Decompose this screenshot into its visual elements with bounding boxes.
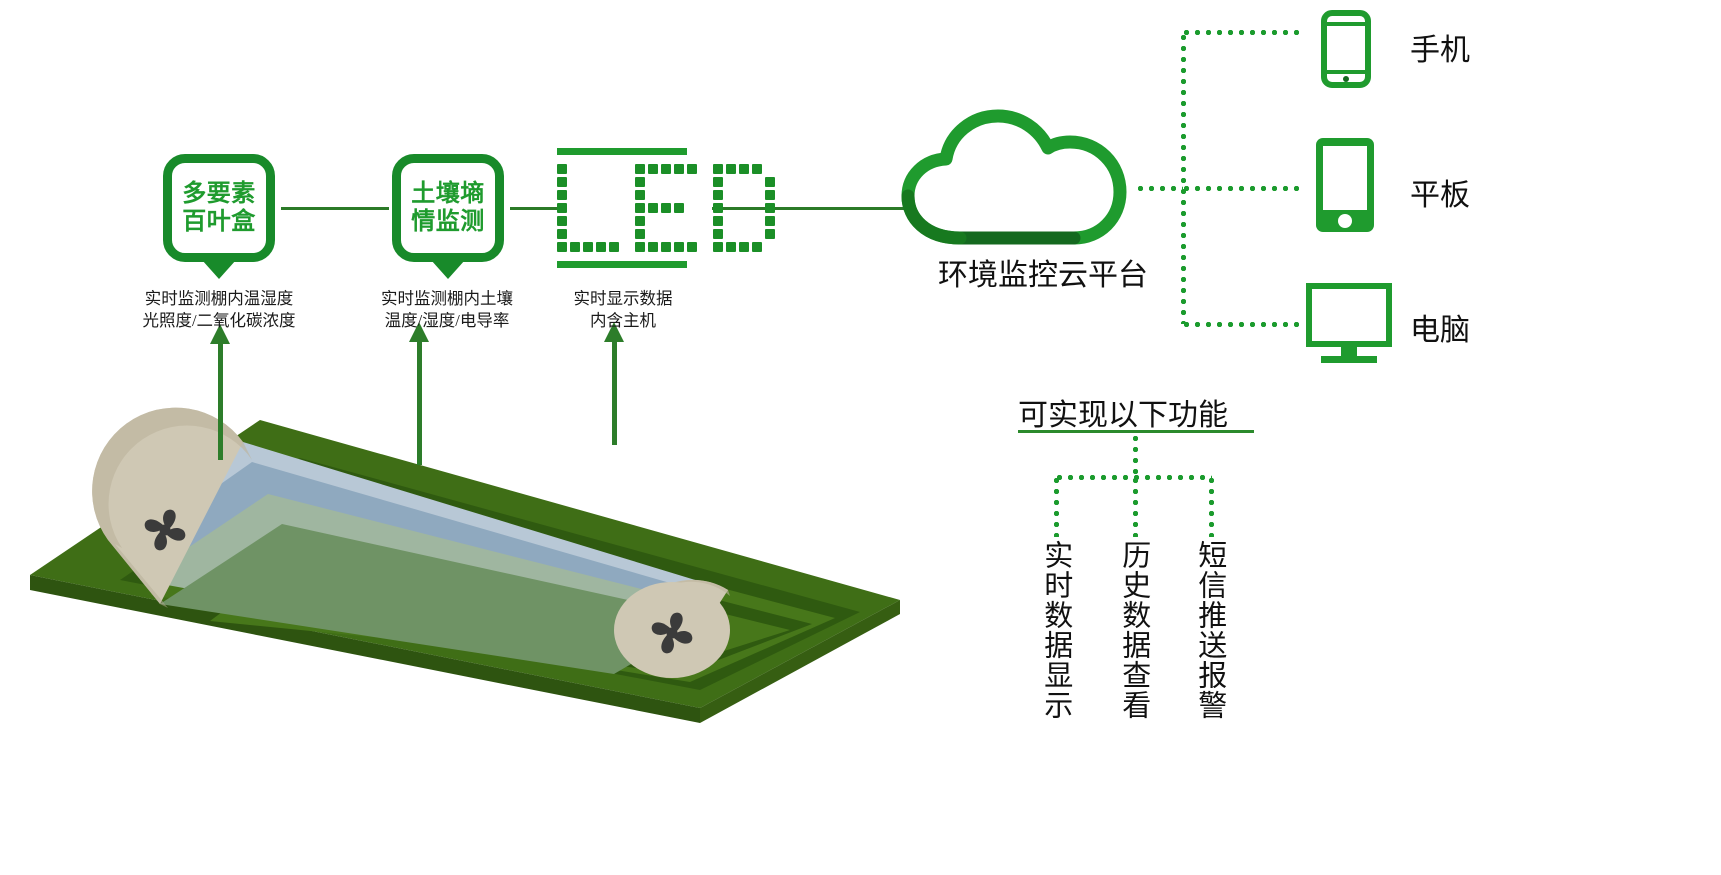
led-pixel bbox=[713, 229, 723, 239]
led-pixel bbox=[661, 203, 671, 213]
led-pixel bbox=[752, 203, 762, 213]
led-pixel bbox=[752, 242, 762, 252]
cloud-platform-label: 环境监控云平台 bbox=[938, 250, 1148, 294]
led-pixel bbox=[557, 229, 567, 239]
led-pixel bbox=[583, 229, 593, 239]
led-pixel bbox=[596, 242, 606, 252]
led-pixel bbox=[765, 190, 775, 200]
led-pixel bbox=[687, 190, 697, 200]
caption-line-2: 内含主机 bbox=[553, 310, 693, 332]
led-pixel bbox=[635, 216, 645, 226]
led-pixel bbox=[687, 177, 697, 187]
led-pixel bbox=[765, 177, 775, 187]
led-pixel bbox=[557, 177, 567, 187]
led-pixel bbox=[713, 216, 723, 226]
led-pixel bbox=[596, 216, 606, 226]
led-pixel bbox=[713, 242, 723, 252]
led-pixel bbox=[622, 177, 632, 187]
led-pixel bbox=[609, 229, 619, 239]
dotted-functions-branch-2 bbox=[1133, 475, 1138, 537]
led-pixel bbox=[609, 164, 619, 174]
caption-line-1: 实时显示数据 bbox=[553, 288, 693, 310]
led-pixel bbox=[765, 229, 775, 239]
dotted-functions-branch-3 bbox=[1209, 475, 1214, 537]
led-pixel-grid bbox=[557, 164, 687, 252]
led-pixel bbox=[622, 242, 632, 252]
node-pointer-1 bbox=[202, 260, 236, 279]
node-label-line2: 百叶盒 bbox=[182, 208, 256, 236]
dotted-bus-vertical bbox=[1181, 32, 1186, 324]
functions-title: 可实现以下功能 bbox=[1018, 390, 1228, 434]
led-pixel bbox=[635, 242, 645, 252]
led-pixel bbox=[661, 190, 671, 200]
led-pixel bbox=[713, 164, 723, 174]
led-pixel bbox=[765, 216, 775, 226]
caption-line-2: 温度/湿度/电导率 bbox=[352, 310, 542, 332]
led-pixel bbox=[739, 190, 749, 200]
led-pixel bbox=[622, 216, 632, 226]
sensor-card-soil-moisture-monitor[interactable]: 土壤墒 情监测 bbox=[392, 154, 504, 262]
led-pixel bbox=[570, 229, 580, 239]
led-display-panel[interactable] bbox=[557, 148, 687, 268]
device-label-phone: 手机 bbox=[1410, 25, 1470, 69]
led-pixel bbox=[739, 177, 749, 187]
led-pixel bbox=[557, 190, 567, 200]
dotted-branch-desktop bbox=[1181, 322, 1305, 327]
led-pixel bbox=[687, 229, 697, 239]
led-pixel bbox=[674, 190, 684, 200]
led-pixel bbox=[583, 216, 593, 226]
led-pixel bbox=[674, 216, 684, 226]
led-pixel bbox=[557, 164, 567, 174]
led-pixel bbox=[583, 242, 593, 252]
led-pixel bbox=[687, 242, 697, 252]
sensor-card-multi-element-shelter-box[interactable]: 多要素 百叶盒 bbox=[163, 154, 275, 262]
led-pixel bbox=[674, 164, 684, 174]
function-label-realtime-data-display: 实时数据显示 bbox=[1040, 540, 1071, 720]
diagram-canvas: 多要素 百叶盒 实时监测棚内温湿度 光照度/二氧化碳浓度 土壤墒 情监测 实时监… bbox=[0, 0, 1721, 875]
led-pixel bbox=[648, 190, 658, 200]
led-pixel bbox=[726, 229, 736, 239]
dotted-functions-branch-1 bbox=[1054, 475, 1059, 537]
led-pixel bbox=[752, 229, 762, 239]
node-label-line1: 土壤墒 bbox=[411, 180, 485, 208]
led-pixel bbox=[700, 216, 710, 226]
led-pixel bbox=[648, 242, 658, 252]
led-pixel bbox=[570, 216, 580, 226]
led-pixel bbox=[583, 190, 593, 200]
led-pixel bbox=[557, 216, 567, 226]
led-pixel bbox=[596, 177, 606, 187]
led-pixel bbox=[752, 164, 762, 174]
led-pixel bbox=[687, 164, 697, 174]
caption-line-1: 实时监测棚内土壤 bbox=[352, 288, 542, 310]
led-pixel bbox=[661, 216, 671, 226]
led-pixel bbox=[700, 203, 710, 213]
led-pixel bbox=[648, 177, 658, 187]
led-pixel bbox=[583, 164, 593, 174]
led-pixel bbox=[609, 216, 619, 226]
led-pixel bbox=[765, 203, 775, 213]
led-pixel bbox=[700, 242, 710, 252]
link-line-node2-led bbox=[510, 207, 560, 210]
led-pixel bbox=[752, 190, 762, 200]
led-pixel bbox=[752, 216, 762, 226]
led-pixel bbox=[674, 177, 684, 187]
sensor-caption-1: 实时监测棚内温湿度 光照度/二氧化碳浓度 bbox=[119, 288, 319, 332]
led-pixel bbox=[635, 190, 645, 200]
led-pixel bbox=[674, 229, 684, 239]
led-pixel bbox=[596, 203, 606, 213]
led-pixel bbox=[739, 216, 749, 226]
led-pixel bbox=[700, 229, 710, 239]
led-pixel bbox=[570, 190, 580, 200]
led-pixel bbox=[661, 229, 671, 239]
led-pixel bbox=[570, 203, 580, 213]
led-pixel bbox=[700, 190, 710, 200]
led-pixel bbox=[583, 177, 593, 187]
led-pixel bbox=[713, 190, 723, 200]
dotted-branch-tablet bbox=[1181, 186, 1305, 191]
phone-icon[interactable] bbox=[1320, 10, 1372, 88]
led-pixel bbox=[661, 242, 671, 252]
tablet-icon[interactable] bbox=[1313, 135, 1377, 235]
led-pixel bbox=[635, 203, 645, 213]
led-pixel bbox=[635, 164, 645, 174]
led-pixel bbox=[726, 164, 736, 174]
function-label-sms-alarm-push: 短信推送报警 bbox=[1194, 540, 1225, 720]
node-label-line2: 情监测 bbox=[411, 208, 485, 236]
dotted-functions-stem bbox=[1133, 433, 1138, 477]
led-pixel bbox=[687, 216, 697, 226]
caption-line-1: 实时监测棚内温湿度 bbox=[119, 288, 319, 310]
led-pixel bbox=[726, 190, 736, 200]
led-pixel bbox=[739, 164, 749, 174]
led-pixel bbox=[622, 203, 632, 213]
led-pixel bbox=[648, 216, 658, 226]
led-pixel bbox=[674, 203, 684, 213]
led-pixel bbox=[700, 177, 710, 187]
led-pixel bbox=[557, 242, 567, 252]
dotted-link-cloud-to-bus bbox=[1135, 186, 1183, 191]
dotted-branch-phone bbox=[1181, 30, 1305, 35]
led-pixel bbox=[739, 242, 749, 252]
device-label-desktop: 电脑 bbox=[1410, 305, 1470, 349]
led-pixel bbox=[726, 177, 736, 187]
cloud-icon[interactable] bbox=[898, 108, 1138, 246]
led-caption: 实时显示数据 内含主机 bbox=[553, 288, 693, 332]
led-pixel bbox=[648, 229, 658, 239]
led-pixel bbox=[635, 177, 645, 187]
led-pixel bbox=[726, 216, 736, 226]
led-pixel bbox=[609, 190, 619, 200]
led-pixel bbox=[739, 229, 749, 239]
led-pixel bbox=[700, 164, 710, 174]
led-pixel bbox=[596, 229, 606, 239]
led-pixel bbox=[622, 229, 632, 239]
led-pixel bbox=[713, 203, 723, 213]
led-pixel bbox=[648, 203, 658, 213]
led-pixel bbox=[570, 177, 580, 187]
led-pixel bbox=[765, 242, 775, 252]
led-pixel bbox=[609, 242, 619, 252]
node-label-line1: 多要素 bbox=[182, 180, 256, 208]
led-bottom-bar bbox=[557, 261, 687, 268]
led-pixel bbox=[583, 203, 593, 213]
led-pixel bbox=[622, 190, 632, 200]
desktop-icon[interactable] bbox=[1305, 282, 1393, 374]
led-pixel bbox=[726, 242, 736, 252]
led-pixel bbox=[648, 164, 658, 174]
led-pixel bbox=[752, 177, 762, 187]
led-pixel bbox=[726, 203, 736, 213]
led-pixel bbox=[596, 164, 606, 174]
sensor-caption-2: 实时监测棚内土壤 温度/湿度/电导率 bbox=[352, 288, 542, 332]
device-label-tablet: 平板 bbox=[1410, 170, 1470, 214]
link-line-node1-node2 bbox=[281, 207, 389, 210]
led-pixel bbox=[765, 164, 775, 174]
led-pixel bbox=[609, 177, 619, 187]
caption-line-2: 光照度/二氧化碳浓度 bbox=[119, 310, 319, 332]
led-pixel bbox=[661, 177, 671, 187]
greenhouse-illustration bbox=[0, 390, 900, 730]
led-pixel bbox=[557, 203, 567, 213]
led-top-bar bbox=[557, 148, 687, 155]
led-pixel bbox=[661, 164, 671, 174]
led-pixel bbox=[674, 242, 684, 252]
led-pixel bbox=[713, 177, 723, 187]
node-pointer-2 bbox=[431, 260, 465, 279]
led-pixel bbox=[687, 203, 697, 213]
led-pixel bbox=[570, 242, 580, 252]
led-pixel bbox=[739, 203, 749, 213]
led-pixel bbox=[635, 229, 645, 239]
function-label-history-data-view: 历史数据查看 bbox=[1118, 540, 1149, 720]
led-pixel bbox=[609, 203, 619, 213]
led-pixel bbox=[622, 164, 632, 174]
led-pixel bbox=[570, 164, 580, 174]
led-pixel bbox=[596, 190, 606, 200]
